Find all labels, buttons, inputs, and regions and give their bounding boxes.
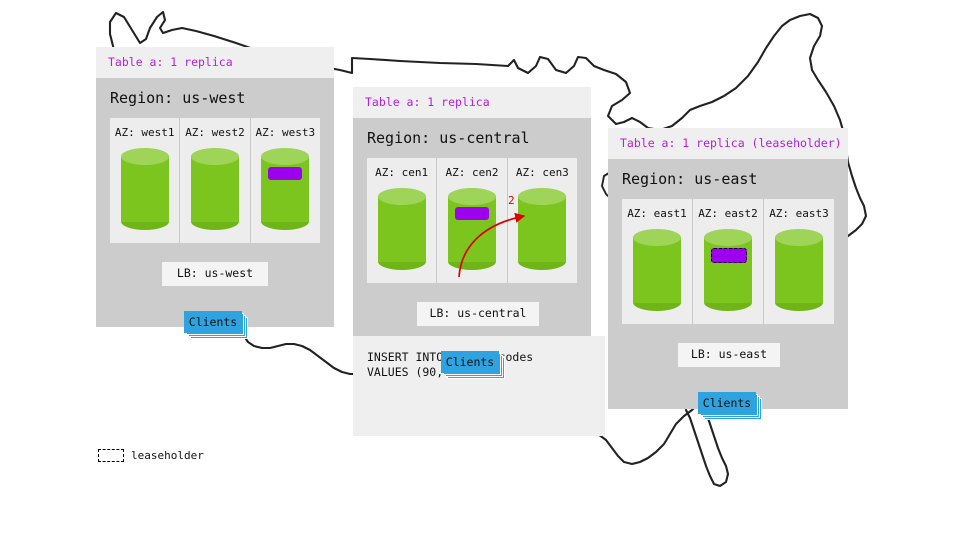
region-panel-us-west: Table a: 1 replica Region: us-west AZ: w…	[96, 47, 334, 327]
az-cell-west2[interactable]: AZ: west2	[179, 118, 249, 243]
clients-label: Clients	[698, 392, 756, 414]
az-cell-east3[interactable]: AZ: east3	[763, 199, 834, 324]
cylinder-top	[704, 229, 752, 246]
cylinder-body	[518, 196, 566, 262]
load-balancer-us-east[interactable]: LB: us-east	[678, 343, 780, 367]
cylinder-body	[378, 196, 426, 262]
arrow-step-label: 2	[508, 195, 515, 206]
clients-us-central[interactable]: Clients	[441, 351, 501, 375]
cylinder-top	[775, 229, 823, 246]
cylinder-top	[378, 188, 426, 205]
az-cell-west1[interactable]: AZ: west1	[110, 118, 179, 243]
cylinder-top	[448, 188, 496, 205]
az-label-east3: AZ: east3	[769, 208, 829, 219]
az-cell-east2[interactable]: AZ: east2	[692, 199, 763, 324]
cylinder-top	[191, 148, 239, 165]
node-cylinder-east1[interactable]	[633, 229, 681, 311]
cylinder-body	[191, 156, 239, 222]
az-label-cen1: AZ: cen1	[375, 167, 428, 178]
replica-range-west3[interactable]	[268, 167, 302, 180]
clients-label: Clients	[441, 351, 499, 373]
region-header-us-central: Table a: 1 replica	[353, 87, 591, 118]
node-cylinder-cen1[interactable]	[378, 188, 426, 270]
region-panel-us-east: Table a: 1 replica (leaseholder) Region:…	[608, 128, 848, 409]
node-cylinder-east2[interactable]	[704, 229, 752, 311]
node-cylinder-east3[interactable]	[775, 229, 823, 311]
region-body-us-east: Region: us-east AZ: east1 AZ: east2	[608, 159, 848, 409]
cylinder-body	[121, 156, 169, 222]
node-cylinder-west3[interactable]	[261, 148, 309, 230]
az-label-east2: AZ: east2	[698, 208, 758, 219]
az-strip-us-central: AZ: cen1 AZ: cen2	[367, 158, 577, 283]
az-label-west1: AZ: west1	[115, 127, 175, 138]
cylinder-body	[261, 156, 309, 222]
region-header-us-west: Table a: 1 replica	[96, 47, 334, 78]
region-title-us-central: Region: us-central	[353, 118, 591, 158]
az-strip-us-west: AZ: west1 AZ: west2 AZ	[110, 118, 320, 243]
az-cell-cen3[interactable]: AZ: cen3	[507, 158, 577, 283]
az-cell-west3[interactable]: AZ: west3	[250, 118, 320, 243]
az-cell-cen1[interactable]: AZ: cen1	[367, 158, 436, 283]
clients-us-east[interactable]: Clients	[698, 392, 758, 416]
cylinder-body	[775, 237, 823, 303]
az-label-cen3: AZ: cen3	[516, 167, 569, 178]
clients-label: Clients	[184, 311, 242, 333]
region-body-us-central: Region: us-central AZ: cen1 AZ: cen2	[353, 118, 591, 367]
cylinder-body	[448, 196, 496, 262]
node-cylinder-west1[interactable]	[121, 148, 169, 230]
az-cell-cen2[interactable]: AZ: cen2	[436, 158, 506, 283]
cylinder-body	[633, 237, 681, 303]
az-label-west2: AZ: west2	[185, 127, 245, 138]
cylinder-body	[704, 237, 752, 303]
node-cylinder-cen2[interactable]	[448, 188, 496, 270]
region-title-us-west: Region: us-west	[96, 78, 334, 118]
load-balancer-us-central[interactable]: LB: us-central	[417, 302, 539, 326]
az-label-cen2: AZ: cen2	[446, 167, 499, 178]
cylinder-top	[633, 229, 681, 246]
region-header-us-east: Table a: 1 replica (leaseholder)	[608, 128, 848, 159]
legend: leaseholder	[98, 449, 204, 462]
replica-range-cen2[interactable]	[455, 207, 489, 220]
clients-us-west[interactable]: Clients	[184, 311, 244, 335]
cylinder-top	[121, 148, 169, 165]
cylinder-top	[261, 148, 309, 165]
node-cylinder-cen3[interactable]	[518, 188, 566, 270]
diagram-canvas: Table a: 1 replica Region: us-west AZ: w…	[0, 0, 960, 540]
az-label-west3: AZ: west3	[256, 127, 316, 138]
cylinder-top	[518, 188, 566, 205]
node-cylinder-west2[interactable]	[191, 148, 239, 230]
replica-range-east2-leaseholder[interactable]	[711, 248, 747, 263]
region-body-us-west: Region: us-west AZ: west1 AZ: west2	[96, 78, 334, 327]
az-cell-east1[interactable]: AZ: east1	[622, 199, 692, 324]
dashed-rect-icon	[98, 449, 124, 462]
region-panel-us-central: Table a: 1 replica Region: us-central AZ…	[353, 87, 591, 367]
load-balancer-us-west[interactable]: LB: us-west	[162, 262, 268, 286]
az-strip-us-east: AZ: east1 AZ: east2	[622, 199, 834, 324]
legend-label: leaseholder	[131, 450, 204, 461]
region-title-us-east: Region: us-east	[608, 159, 848, 199]
az-label-east1: AZ: east1	[627, 208, 687, 219]
